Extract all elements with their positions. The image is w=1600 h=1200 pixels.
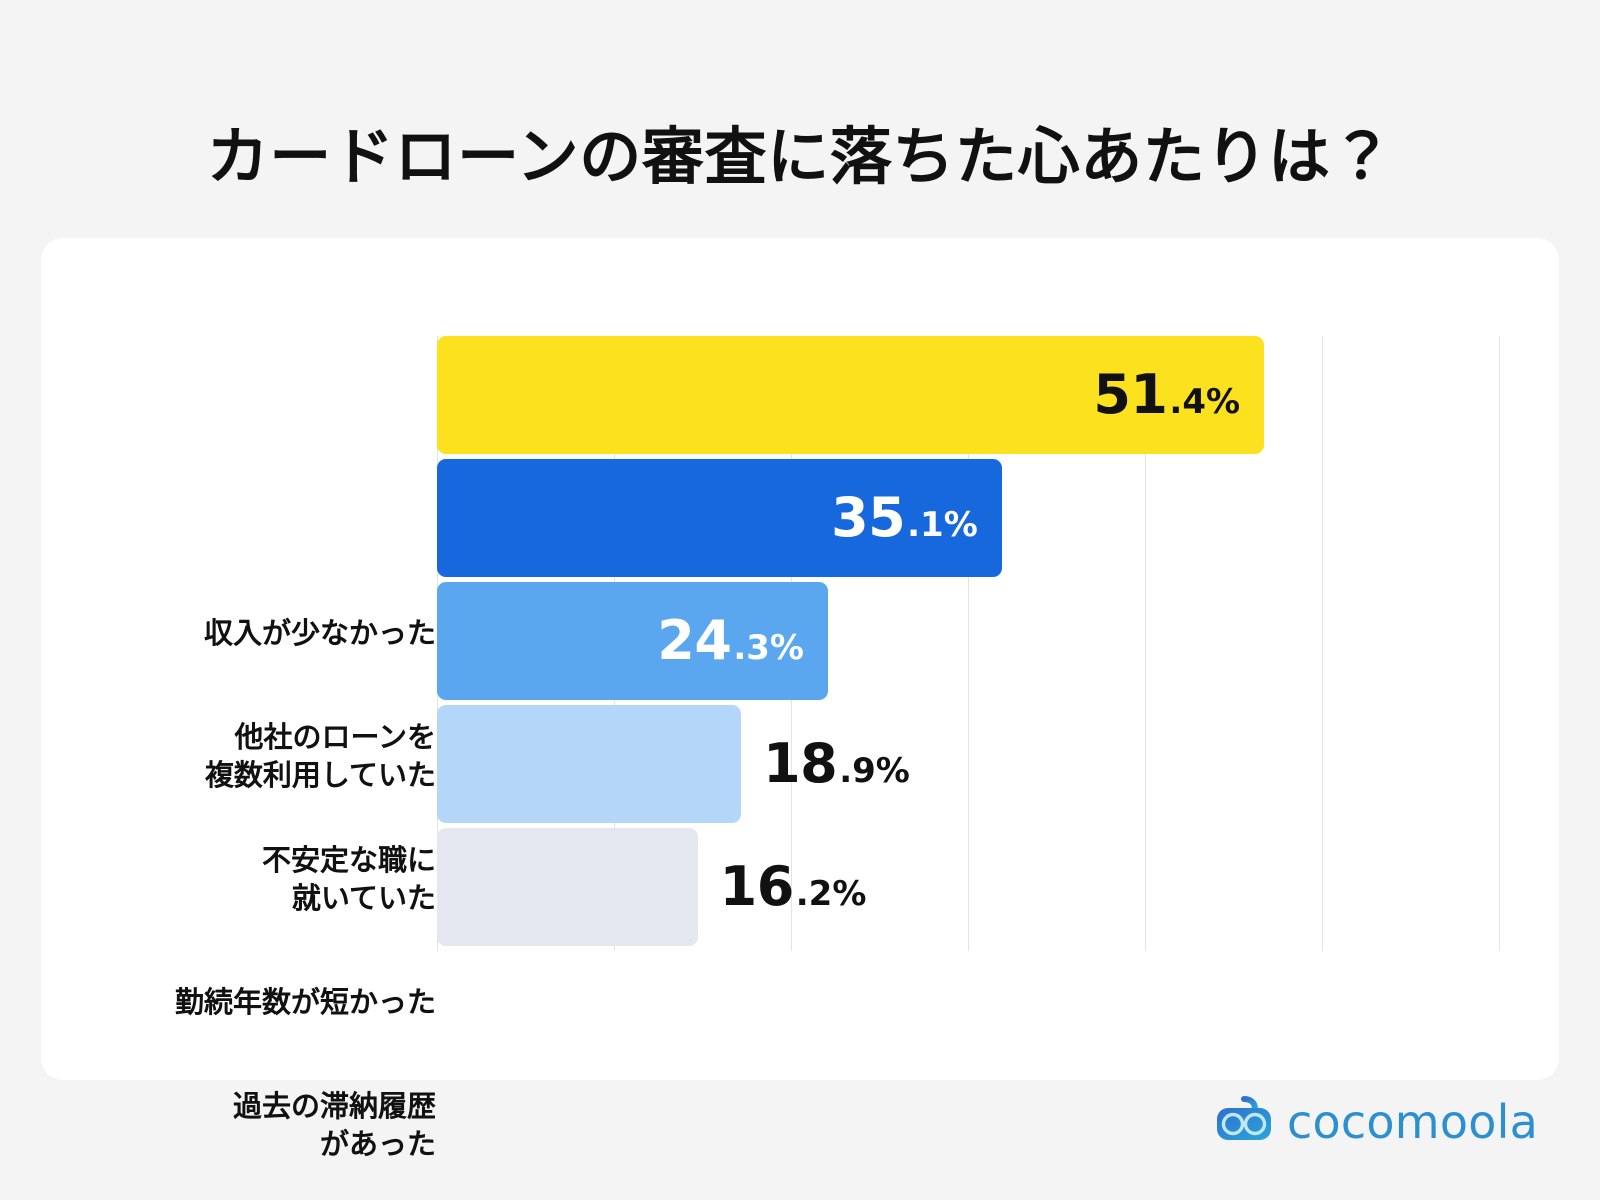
bar[interactable]: 51.4%	[437, 336, 1264, 454]
bar-row: 51.4%	[437, 336, 1499, 454]
bar-chart-plot: 51.4%35.1%24.3%18.9%16.2%	[437, 336, 1499, 951]
bar-value-label: 16.2%	[720, 860, 867, 914]
bar[interactable]: 35.1%	[437, 459, 1002, 577]
category-label-line: 収入が少なかった	[204, 614, 436, 652]
bar-value-label: 24.3%	[657, 614, 804, 668]
bar-value-fraction: .2%	[796, 877, 867, 911]
page-title: カードローンの審査に落ちた心あたりは？	[207, 126, 1394, 188]
bar-value-integer: 24	[657, 614, 731, 668]
bar-value-fraction: .9%	[839, 754, 910, 788]
category-label: 他社のローンを複数利用していた	[101, 697, 436, 815]
category-label: 収入が少なかった	[101, 574, 436, 692]
category-label-line: があった	[320, 1125, 436, 1163]
bar-row: 35.1%	[437, 459, 1499, 577]
category-label: 過去の滞納履歴があった	[101, 1066, 436, 1184]
category-label: 不安定な職に就いていた	[101, 820, 436, 938]
category-label-line: 就いていた	[292, 879, 436, 917]
gridline	[1499, 336, 1500, 951]
bar-rows: 51.4%35.1%24.3%18.9%16.2%	[437, 336, 1499, 951]
bar[interactable]: 24.3%	[437, 582, 828, 700]
category-label-line: 過去の滞納履歴	[233, 1087, 436, 1125]
bar-value-fraction: .1%	[907, 508, 978, 542]
bar[interactable]: 18.9%	[437, 705, 741, 823]
category-label-line: 不安定な職に	[262, 841, 436, 879]
category-label-line: 複数利用していた	[205, 756, 436, 794]
bar-value-integer: 16	[720, 860, 794, 914]
logo-wordmark: cocomoola	[1287, 1099, 1538, 1145]
category-label-line: 他社のローンを	[234, 718, 436, 756]
chart-card: 収入が少なかった他社のローンを複数利用していた不安定な職に就いていた勤続年数が短…	[41, 238, 1559, 1080]
bar-row: 16.2%	[437, 828, 1499, 946]
category-label-line: 勤続年数が短かった	[175, 983, 436, 1021]
bar-value-integer: 51	[1093, 368, 1167, 422]
bar-value-fraction: .3%	[733, 631, 804, 665]
bar-value-fraction: .4%	[1169, 385, 1240, 419]
cocomoola-logo: cocomoola	[1215, 1096, 1538, 1147]
category-labels: 収入が少なかった他社のローンを複数利用していた不安定な職に就いていた勤続年数が短…	[101, 574, 436, 1189]
bar-value-label: 18.9%	[763, 737, 910, 791]
bar-row: 24.3%	[437, 582, 1499, 700]
cocomoola-robot-icon	[1215, 1096, 1273, 1147]
page-title-wrap: カードローンの審査に落ちた心あたりは？	[0, 84, 1600, 229]
bar-value-integer: 18	[763, 737, 837, 791]
bar-value-label: 35.1%	[831, 491, 978, 545]
bar-value-label: 51.4%	[1093, 368, 1240, 422]
category-label: 勤続年数が短かった	[101, 943, 436, 1061]
bar-row: 18.9%	[437, 705, 1499, 823]
bar-value-integer: 35	[831, 491, 905, 545]
poster-page: カードローンの審査に落ちた心あたりは？ 収入が少なかった他社のローンを複数利用し…	[0, 0, 1600, 1200]
bar[interactable]: 16.2%	[437, 828, 698, 946]
